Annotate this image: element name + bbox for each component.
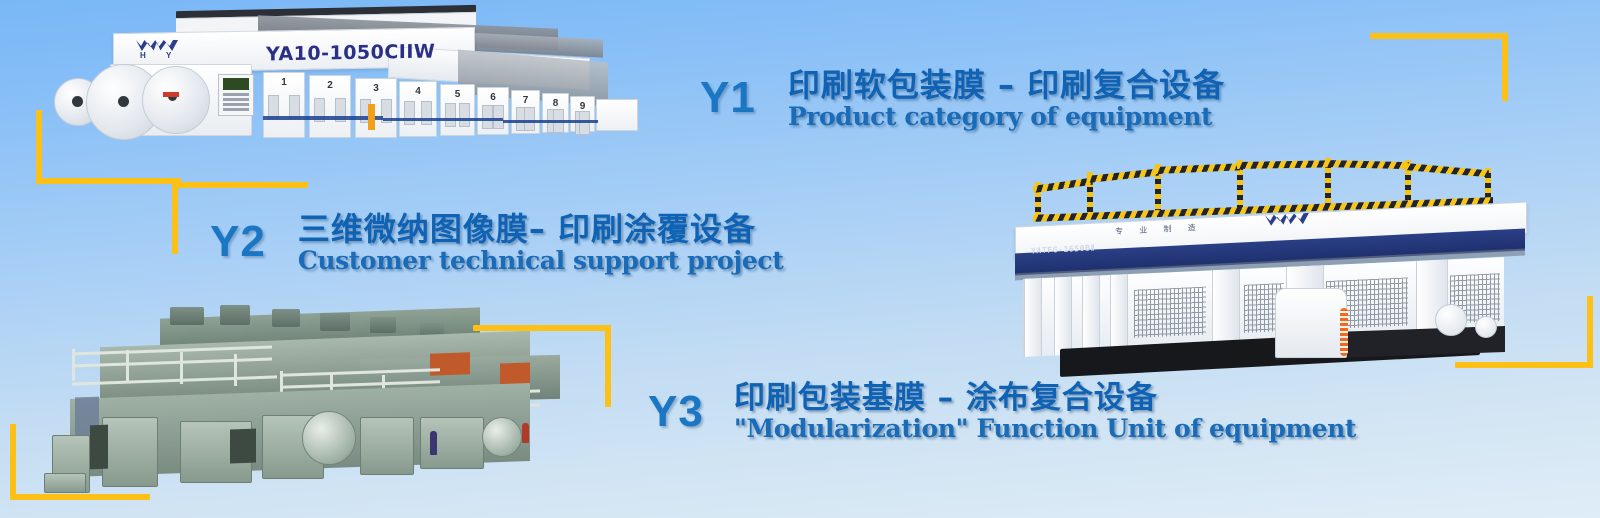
railing-bar — [1033, 178, 1093, 193]
bracket-y2-right-vertical — [1587, 296, 1593, 368]
press-unit-panel-r — [459, 103, 470, 127]
bracket-y2-left-vertical — [172, 182, 178, 254]
green-dark-gap — [90, 425, 108, 470]
green-blower — [220, 305, 250, 325]
press-blue-stripe-3 — [503, 120, 598, 123]
machine-image-gravure-press: H Y YA10-1050CIIW 1 2 3 4 5 6 7 8 9 — [58, 4, 598, 172]
press-unit-panel-l — [404, 101, 415, 125]
logo-mark — [1265, 213, 1309, 226]
press-unit-number: 1 — [264, 77, 304, 88]
press-model-label: YA10-1050CIIW — [266, 41, 435, 66]
green-walkway-post — [180, 352, 183, 384]
bracket-y3-left-horizontal — [10, 494, 150, 500]
green-operator — [430, 431, 437, 455]
green-walkway-post — [126, 350, 129, 382]
press-blue-stripe-2 — [383, 118, 503, 121]
press-unit: 9 — [570, 96, 595, 132]
coater-rewinder — [1275, 288, 1347, 358]
logo-mark — [136, 40, 178, 51]
coater-column — [1082, 275, 1100, 354]
green-walkway-post — [234, 354, 237, 386]
bracket-y2-left-horizontal — [172, 182, 308, 188]
railing-bar — [1237, 160, 1329, 169]
railing-bar — [1087, 168, 1159, 182]
railing-bar — [1325, 160, 1409, 169]
bracket-y3-right-horizontal — [473, 325, 611, 331]
press-unit: 2 — [309, 75, 351, 138]
press-unit: 3 — [355, 78, 397, 138]
machine-image-green-coater — [30, 305, 575, 490]
green-big-roll — [302, 411, 356, 465]
press-roll-hub-b — [118, 96, 129, 107]
green-orange-unit — [430, 352, 470, 375]
entry-y3: Y3 印刷包装基膜 – 涂布复合设备 "Modularization" Func… — [648, 382, 1356, 443]
bracket-y2-right-horizontal — [1455, 362, 1593, 368]
press-red-marker — [163, 92, 179, 97]
bracket-y1-left-vertical — [36, 110, 42, 184]
coater-column — [1212, 269, 1240, 348]
press-unit-panel-r — [579, 111, 590, 135]
entry-y1-code: Y1 — [700, 76, 756, 120]
press-unit-number: 4 — [400, 86, 436, 97]
green-blower — [370, 317, 396, 333]
entry-y3-code: Y3 — [648, 390, 704, 434]
press-unit-panel-r — [421, 101, 432, 125]
green-dark-gap — [230, 429, 256, 464]
bracket-y1-right-horizontal — [1370, 33, 1508, 39]
bracket-y1-right-vertical — [1502, 33, 1508, 101]
press-unit-number: 3 — [356, 83, 396, 94]
press-unit-panel-r — [493, 105, 504, 129]
press-unit: 8 — [542, 93, 569, 133]
entry-y2: Y2 三维微纳图像膜– 印刷涂覆设备 Customer technical su… — [210, 212, 783, 274]
entry-y3-title-en: "Modularization" Function Unit of equipm… — [734, 416, 1356, 442]
press-unit: 1 — [263, 72, 305, 138]
railing-bar — [1155, 163, 1241, 174]
press-unit-number: 5 — [441, 89, 474, 100]
press-unit-number: 6 — [478, 92, 508, 103]
green-unit — [102, 417, 158, 487]
green-base — [44, 473, 86, 493]
press-control-keypad — [223, 93, 249, 111]
coater-drum — [1435, 304, 1467, 336]
green-walkway-post — [72, 349, 75, 381]
entry-y1-title-en: Product category of equipment — [788, 104, 1225, 130]
green-big-roll — [482, 417, 522, 457]
press-unit-end — [596, 99, 638, 131]
press-blue-stripe-1 — [263, 116, 383, 120]
bracket-y1-left-horizontal — [36, 178, 181, 184]
press-unit-panel-r — [524, 107, 535, 131]
green-unit — [360, 417, 414, 475]
railing-bar — [1405, 163, 1489, 177]
coater-web-path — [1134, 287, 1206, 338]
press-control-panel — [218, 74, 254, 116]
hy-brand-logo: H Y — [136, 40, 178, 60]
press-unit-number: 2 — [310, 80, 350, 91]
entry-y2-title-en: Customer technical support project — [298, 248, 784, 274]
bracket-y3-right-vertical — [605, 325, 611, 407]
press-unit: 7 — [511, 90, 540, 134]
press-control-screen — [223, 78, 249, 90]
machine-image-coating-line: 专 业 制 造 YATFG-1650BⅡ — [975, 158, 1575, 383]
press-unit: 6 — [477, 87, 509, 135]
press-unit-panel-l — [482, 105, 493, 129]
logo-letter-y: Y — [166, 51, 171, 60]
product-category-banner: H Y YA10-1050CIIW 1 2 3 4 5 6 7 8 9 — [0, 0, 1600, 518]
coater-orange-hose — [1340, 308, 1348, 356]
green-blower — [272, 309, 300, 327]
coater-column — [1110, 274, 1128, 353]
press-roll-hub-a — [72, 96, 83, 107]
coater-drum-small — [1475, 316, 1497, 338]
logo-letter-h: H — [140, 51, 146, 60]
press-unit-number: 8 — [543, 98, 568, 109]
press-unit-number: 7 — [512, 95, 539, 106]
entry-y1-title-cn: 印刷软包装膜 – 印刷复合设备 — [788, 68, 1225, 103]
coater-column — [1024, 278, 1042, 357]
entry-y3-title-cn: 印刷包装基膜 – 涂布复合设备 — [734, 382, 1356, 415]
press-unit-panel-l — [445, 103, 456, 127]
entry-y2-code: Y2 — [210, 220, 266, 264]
press-roll-c — [142, 66, 210, 134]
press-unit: 4 — [399, 81, 437, 137]
press-orange-indicator — [368, 104, 375, 130]
press-unit: 5 — [440, 84, 475, 136]
green-operator — [522, 423, 529, 443]
entry-y1: Y1 印刷软包装膜 – 印刷复合设备 Product category of e… — [700, 68, 1225, 130]
bracket-y3-left-vertical — [10, 424, 16, 500]
coater-column — [1054, 277, 1072, 356]
coater-brand-logo — [1265, 213, 1309, 227]
entry-y2-title-cn: 三维微纳图像膜– 印刷涂覆设备 — [298, 212, 784, 247]
green-blower — [320, 313, 350, 331]
green-blower — [170, 307, 204, 325]
